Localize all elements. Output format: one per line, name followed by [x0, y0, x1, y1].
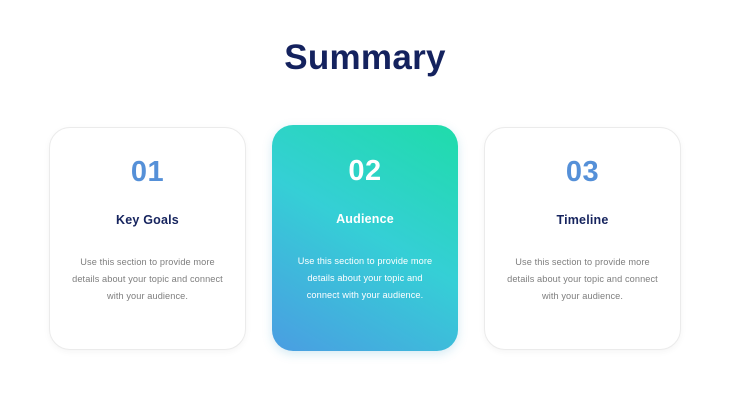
- card-heading: Timeline: [556, 212, 608, 228]
- card-heading: Audience: [336, 211, 394, 227]
- summary-card-timeline[interactable]: 03 Timeline Use this section to provide …: [484, 127, 681, 350]
- card-heading: Key Goals: [116, 212, 179, 228]
- card-body-text: Use this section to provide more details…: [507, 254, 659, 305]
- summary-cards-row: 01 Key Goals Use this section to provide…: [0, 125, 730, 351]
- summary-card-audience[interactable]: 02 Audience Use this section to provide …: [272, 125, 458, 351]
- card-body-text: Use this section to provide more details…: [290, 253, 440, 304]
- card-number: 01: [131, 156, 164, 188]
- card-number: 02: [348, 155, 381, 187]
- summary-card-key-goals[interactable]: 01 Key Goals Use this section to provide…: [49, 127, 246, 350]
- card-number: 03: [566, 156, 599, 188]
- card-body-text: Use this section to provide more details…: [72, 254, 224, 305]
- page-title: Summary: [0, 36, 730, 80]
- summary-slide: Summary 01 Key Goals Use this section to…: [0, 0, 730, 411]
